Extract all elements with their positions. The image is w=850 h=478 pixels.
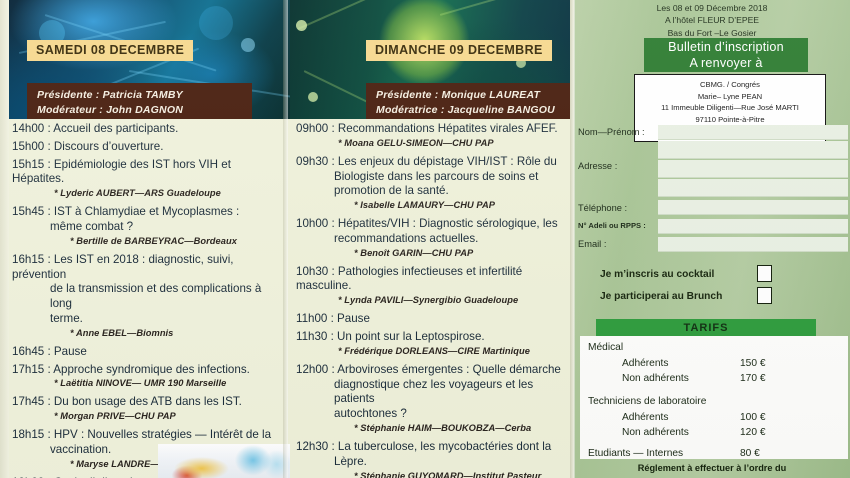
tarif-etudiants-price: 80 € [740, 448, 760, 459]
programme-item-title: 16h45 : Pause [12, 345, 280, 360]
sunday-president: Présidente : Monique LAUREAT [376, 88, 570, 103]
page-fold-left [283, 0, 288, 478]
label-adresse: Adresse : [578, 161, 617, 171]
sunday-moderator: Modératrice : Jacqueline BANGOU [376, 103, 570, 118]
programme-item: 09h00 : Recommandations Hépatites virale… [296, 122, 568, 150]
programme-item: 10h30 : Pathologies infectieuses et infe… [296, 265, 568, 308]
programme-item-speaker: * Laëtitia NINOVE— UMR 190 Marseille [54, 378, 280, 390]
programme-item-speaker: * Stéphanie HAIM—BOUKOBZA—Cerba [354, 423, 568, 435]
programme-item-time: 15h45 [12, 205, 47, 218]
programme-item-time: 11h30 [296, 330, 331, 343]
programme-item-continuation: Lèpre. [334, 455, 568, 470]
programme-item-speaker: * Frédérique DORLEANS—CIRE Martinique [338, 346, 568, 358]
programme-item-time: 12h00 [296, 363, 331, 376]
programme-item-title: 15h45 : IST à Chlamydiae et Mycoplasmes … [12, 205, 280, 220]
programme-item-time: 15h15 [12, 158, 47, 171]
programme-item-speaker: * Morgan PRIVE—CHU PAP [54, 411, 280, 423]
programme-item-time: 09h30 [296, 155, 331, 168]
input-adresse-line3[interactable] [658, 179, 848, 197]
chair-box-sunday: Présidente : Monique LAUREAT Modératrice… [366, 83, 570, 119]
programme-list-sunday: 09h00 : Recommandations Hépatites virale… [296, 122, 568, 478]
event-date-line: Les 08 et 09 Décembre 2018 [574, 2, 850, 14]
programme-item-continuation: promotion de la santé. [334, 184, 568, 199]
label-adeli-rpps: N° Adeli ou RPPS : [578, 221, 646, 230]
programme-item: 17h15 : Approche syndromique des infecti… [12, 363, 280, 391]
programme-item-speaker: * Lyderic AUBERT—ARS Guadeloupe [54, 188, 280, 200]
programme-item-time: 10h30 [296, 265, 331, 278]
programme-item-time: 10h00 [296, 217, 331, 230]
programme-item-title: 11h00 : Pause [296, 312, 568, 327]
tarif-category-etudiants: Etudiants — Internes [588, 448, 683, 459]
buffet-photo [158, 444, 290, 478]
programme-item: 11h00 : Pause [296, 312, 568, 327]
programme-item: 15h15 : Epidémiologie des IST hors VIH e… [12, 158, 280, 201]
programme-item: 12h00 : Arboviroses émergentes : Quelle … [296, 363, 568, 435]
saturday-president: Présidente : Patricia TAMBY [37, 88, 242, 103]
brochure-page: SAMEDI 08 DECEMBRE DIMANCHE 09 DECEMBRE … [0, 0, 850, 478]
tarif-tech-non-adherents-label: Non adhérents [622, 427, 689, 438]
programme-item-speaker: * Moana GELU-SIMEON—CHU PAP [338, 138, 568, 150]
programme-item-title: 12h30 : La tuberculose, les mycobactérie… [296, 440, 568, 455]
programme-item-time: 12h30 [296, 440, 331, 453]
saturday-moderator: Modérateur : John DAGNON [37, 103, 242, 118]
programme-item: 17h45 : Du bon usage des ATB dans les IS… [12, 395, 280, 423]
programme-item-time: 15h00 [12, 140, 47, 153]
tarif-medical-adherents-label: Adhérents [622, 358, 668, 369]
checkbox-cocktail[interactable] [757, 265, 772, 282]
tarif-medical-non-adherents-price: 170 € [740, 373, 766, 384]
chair-box-saturday: Présidente : Patricia TAMBY Modérateur :… [27, 83, 252, 119]
page-fold-right [570, 0, 575, 478]
input-email[interactable] [658, 237, 848, 252]
programme-item-time: 09h00 [296, 122, 331, 135]
programme-item-title: 17h45 : Du bon usage des ATB dans les IS… [12, 395, 280, 410]
address-line-2: Marie– Lyne PEAN [637, 91, 823, 103]
programme-item-time: 16h15 [12, 253, 47, 266]
address-line-4: 97110 Pointe-à-Pitre [637, 114, 823, 126]
programme-item-title: 10h30 : Pathologies infectieuses et infe… [296, 265, 568, 295]
label-nom-prenom: Nom—Prénom : [578, 127, 645, 137]
tarif-tech-non-adherents-price: 120 € [740, 427, 766, 438]
day-chip-sunday: DIMANCHE 09 DECEMBRE [366, 40, 552, 61]
programme-item-title: 18h15 : HPV : Nouvelles stratégies — Int… [12, 428, 280, 443]
programme-item-speaker: * Anne EBEL—Biomnis [70, 328, 280, 340]
checkbox-brunch[interactable] [757, 287, 772, 304]
tarif-tech-adherents-price: 100 € [740, 412, 766, 423]
programme-item-time: 14h00 [12, 122, 47, 135]
programme-item-title: 16h15 : Les IST en 2018 : diagnostic, su… [12, 253, 280, 283]
event-header-lines: Les 08 et 09 Décembre 2018 A l’hôtel FLE… [574, 2, 850, 39]
bulletin-subtitle: A renvoyer à [689, 55, 762, 71]
programme-item-continuation: diagnostique chez les voyageurs et les p… [334, 378, 568, 408]
programme-item: 16h15 : Les IST en 2018 : diagnostic, su… [12, 253, 280, 340]
programme-item-continuation: Biologiste dans les parcours de soins et [334, 170, 568, 185]
programme-item: 15h00 : Discours d’ouverture. [12, 140, 280, 155]
programme-item-title: 10h00 : Hépatites/VIH : Diagnostic sérol… [296, 217, 568, 232]
programme-item-title: 12h00 : Arboviroses émergentes : Quelle … [296, 363, 568, 378]
programme-item-title: 14h00 : Accueil des participants. [12, 122, 280, 137]
input-adresse-line2[interactable] [658, 160, 848, 178]
tarif-category-techniciens: Techniciens de laboratoire [588, 396, 706, 407]
payment-note: Réglement à effectuer à l’ordre du [574, 463, 850, 473]
tarif-tech-adherents-label: Adhérents [622, 412, 668, 423]
tarifs-table: Médical Adhérents 150 € Non adhérents 17… [580, 336, 848, 459]
programme-item: 15h45 : IST à Chlamydiae et Mycoplasmes … [12, 205, 280, 248]
bulletin-title: Bulletin d’inscription [668, 39, 784, 55]
programme-item: 10h00 : Hépatites/VIH : Diagnostic sérol… [296, 217, 568, 260]
input-adeli-rpps[interactable] [658, 219, 848, 234]
header-banner: SAMEDI 08 DECEMBRE DIMANCHE 09 DECEMBRE … [9, 0, 570, 119]
programme-item-continuation: recommandations actuelles. [334, 232, 568, 247]
checkbox-label-brunch: Je participerai au Brunch [600, 291, 722, 302]
programme-list-saturday: 14h00 : Accueil des participants.15h00 :… [12, 122, 280, 478]
input-adresse-line1[interactable] [658, 141, 848, 159]
programme-item: 16h45 : Pause [12, 345, 280, 360]
programme-item: 14h00 : Accueil des participants. [12, 122, 280, 137]
programme-item-continuation: de la transmission et des complications … [50, 282, 280, 312]
programme-item-title: 17h15 : Approche syndromique des infecti… [12, 363, 280, 378]
day-chip-saturday: SAMEDI 08 DECEMBRE [27, 40, 193, 61]
programme-item-continuation: terme. [50, 312, 280, 327]
programme-item-continuation: même combat ? [50, 220, 280, 235]
checkbox-label-cocktail: Je m’inscris au cocktail [600, 269, 714, 280]
scan-edge-shadow [0, 0, 9, 478]
programme-item-title: 09h30 : Les enjeux du dépistage VIH/IST … [296, 155, 568, 170]
programme-item-time: 17h15 [12, 363, 47, 376]
bulletin-header: Bulletin d’inscription A renvoyer à [644, 38, 808, 72]
programme-item-speaker: * Stéphanie GUYOMARD—Institut Pasteur Gu… [354, 471, 568, 478]
address-line-3: 11 Immeuble Diligenti—Rue José MARTI [637, 102, 823, 114]
label-telephone: Téléphone : [578, 203, 627, 213]
programme-item-time: 17h45 [12, 395, 47, 408]
programme-item: 11h30 : Un point sur la Leptospirose.* F… [296, 330, 568, 358]
programme-item-continuation: autochtones ? [334, 407, 568, 422]
programme-item-speaker: * Bertille de BARBEYRAC—Bordeaux [70, 236, 280, 248]
programme-item-time: 11h00 [296, 312, 331, 325]
programme-item-title: 15h00 : Discours d’ouverture. [12, 140, 280, 155]
programme-item-title: 11h30 : Un point sur la Leptospirose. [296, 330, 568, 345]
programme-item: 09h30 : Les enjeux du dépistage VIH/IST … [296, 155, 568, 212]
programme-item: 12h30 : La tuberculose, les mycobactérie… [296, 440, 568, 478]
tarif-medical-non-adherents-label: Non adhérents [622, 373, 689, 384]
input-nom-prenom[interactable] [658, 125, 848, 140]
address-line-1: CBMG. / Congrés [637, 79, 823, 91]
programme-item-time: 16h45 [12, 345, 47, 358]
tarif-category-medical: Médical [588, 342, 623, 353]
programme-item-speaker: * Isabelle LAMAURY—CHU PAP [354, 200, 568, 212]
programme-item-title: 15h15 : Epidémiologie des IST hors VIH e… [12, 158, 280, 188]
programme-item-speaker: * Benoît GARIN—CHU PAP [354, 248, 568, 260]
tarifs-header: TARIFS [596, 319, 816, 336]
label-email: Email : [578, 239, 606, 249]
input-telephone[interactable] [658, 200, 848, 215]
programme-item-title: 09h00 : Recommandations Hépatites virale… [296, 122, 568, 137]
programme-item-time: 18h15 [12, 428, 47, 441]
event-venue-line: A l’hôtel FLEUR D’EPEE [574, 14, 850, 26]
tarif-medical-adherents-price: 150 € [740, 358, 766, 369]
programme-item-speaker: * Lynda PAVILI—Synergibio Guadeloupe [338, 295, 568, 307]
